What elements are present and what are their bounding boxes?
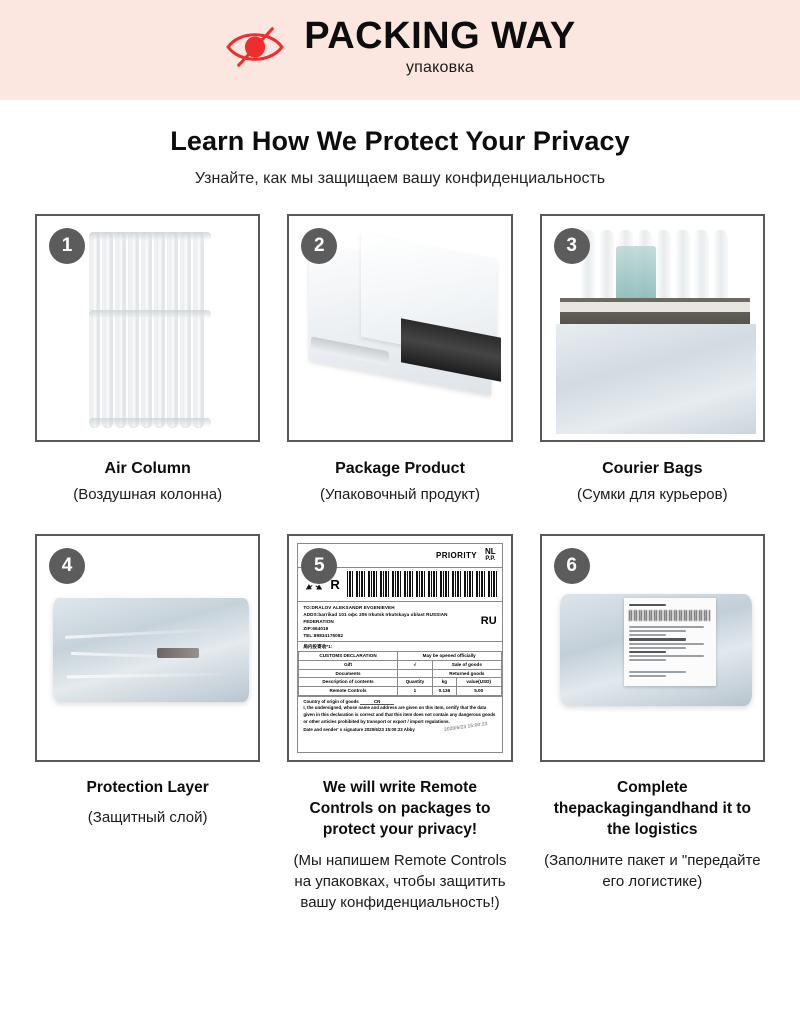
step-card-5: 5 PRIORITY NL P.P.: [287, 534, 512, 913]
brand-name: PACKING WAY: [304, 17, 576, 57]
step-number-badge-4: 4: [49, 548, 85, 584]
step-card-6: 6: [540, 534, 765, 913]
step-number-badge-1: 1: [49, 228, 85, 264]
customs-gift-label: Gift: [299, 660, 397, 669]
barcode-image: [347, 571, 497, 597]
brand-subtitle: упаковка: [406, 59, 474, 77]
table-row: CUSTOMS DECLARATION May be opened offici…: [299, 652, 501, 661]
origin-value: CN: [360, 699, 394, 705]
step-number-badge-3: 3: [554, 228, 590, 264]
customs-documents-check: [397, 669, 432, 678]
step-title-en-6: Complete thepackagingandhand it to the l…: [544, 777, 761, 841]
step-caption-2: Package Product (Упаковочный продукт): [316, 442, 484, 506]
step-title-en-4: Protection Layer: [87, 777, 209, 798]
step-title-ru-2: (Упаковочный продукт): [320, 485, 480, 505]
step-caption-1: Air Column (Воздушная колонна): [69, 442, 226, 506]
table-row: Documents Returned goods: [299, 669, 501, 678]
step-title-ru-3: (Сумки для курьеров): [577, 485, 728, 505]
step-title-ru-4: (Защитный слой): [87, 807, 209, 828]
step-title-en-5: We will write Remote Controls on package…: [291, 777, 508, 841]
customs-col-quantity: Quantity: [397, 678, 432, 687]
address-line-3: FEDERATION: [303, 618, 474, 625]
step-title-en-3: Courier Bags: [577, 458, 728, 479]
table-row: Description of contents Quantity kg valu…: [299, 678, 501, 687]
step-image-2: 2: [287, 214, 512, 442]
step-number-badge-6: 6: [554, 548, 590, 584]
customs-item-description: Remote Controls: [299, 687, 397, 696]
declaration-text: I, the undersigned, whose name and addre…: [303, 705, 496, 725]
step-image-5: 5 PRIORITY NL P.P.: [287, 534, 512, 762]
page-subtitle: Узнайте, как мы защищаем вашу конфиденци…: [0, 170, 800, 188]
recycle-letter: R: [330, 577, 339, 592]
address-line-1: TO:DRALOV ALEKSANDR EVGENIEVEH: [303, 604, 474, 611]
step-title-ru-6: (Заполните пакет и "передайте его логист…: [544, 850, 761, 892]
page-title: Learn How We Protect Your Privacy: [0, 126, 800, 157]
customs-sale-label: Sale of goods: [433, 660, 502, 669]
step-title-en-1: Air Column: [73, 458, 222, 479]
table-row: Remote Controls 1 0.136 5.00: [299, 687, 501, 696]
cn-internal-note: 局内投寄收*1:: [298, 642, 501, 651]
origin-row: Country of origin of goods CN: [303, 699, 496, 706]
steps-grid-row-1: 1 Air Column (Воздушная колонна): [0, 214, 800, 506]
customs-col-kg: kg: [433, 678, 457, 687]
customs-documents-label: Documents: [299, 669, 397, 678]
brand-text: PACKING WAY упаковка: [304, 17, 576, 78]
origin-label: Country of origin of goods: [303, 699, 358, 704]
step-image-6: 6: [540, 534, 765, 762]
destination-country-code: RU: [475, 615, 497, 627]
customs-col-description: Description of contents: [299, 678, 397, 687]
postage-paid-text: P.P.: [485, 556, 496, 562]
step-caption-6: Complete thepackagingandhand it to the l…: [540, 762, 765, 892]
eye-slash-icon: [224, 23, 286, 71]
step-title-ru-5: (Мы напишем Remote Controls на упаковках…: [291, 850, 508, 913]
steps-grid-row-2: 4 Protection Layer (Защитный слой) 5 PRI…: [0, 534, 800, 913]
step-caption-4: Protection Layer (Защитный слой): [83, 762, 213, 828]
address-line-2: ADDS:barrikad 101 офс 205 Irkutsk Irkuts…: [303, 611, 474, 618]
step-image-3: 3: [540, 214, 765, 442]
table-row: Gift √ Sale of goods: [299, 660, 501, 669]
address-line-4: ZIP:664019: [303, 625, 474, 632]
customs-declaration-table: CUSTOMS DECLARATION May be opened offici…: [298, 651, 501, 696]
customs-item-quantity: 1: [397, 687, 432, 696]
step-title-en-2: Package Product: [320, 458, 480, 479]
step-caption-5: We will write Remote Controls on package…: [287, 762, 512, 913]
priority-text: PRIORITY: [436, 551, 477, 560]
brand-lockup: PACKING WAY упаковка: [224, 17, 576, 78]
step-card-1: 1 Air Column (Воздушная колонна): [35, 214, 260, 506]
recipient-address: TO:DRALOV ALEKSANDR EVGENIEVEH ADDS:barr…: [303, 604, 474, 640]
step-image-1: 1: [35, 214, 260, 442]
customs-gift-check: √: [397, 660, 432, 669]
customs-col-value: value(USD): [456, 678, 501, 687]
customs-returned-label: Returned goods: [433, 669, 502, 678]
step-title-ru-1: (Воздушная колонна): [73, 485, 222, 505]
site-header: PACKING WAY упаковка: [0, 0, 800, 100]
postage-mark: NL P.P.: [485, 548, 496, 563]
step-card-4: 4 Protection Layer (Защитный слой): [35, 534, 260, 913]
label-address-row: TO:DRALOV ALEKSANDR EVGENIEVEH ADDS:barr…: [298, 602, 501, 643]
title-block: Learn How We Protect Your Privacy Узнайт…: [0, 100, 800, 188]
customs-item-value: 5.00: [456, 687, 501, 696]
step-card-3: 3 Courier Bags (Сумки для курьеров): [540, 214, 765, 506]
address-line-5: TEL:89834175082: [303, 632, 474, 639]
step-number-badge-5: 5: [301, 548, 337, 584]
customs-header-right: May be opened officially: [397, 652, 501, 661]
customs-item-kg: 0.136: [433, 687, 457, 696]
step-image-4: 4: [35, 534, 260, 762]
country-code-top: NL: [485, 548, 496, 556]
step-caption-3: Courier Bags (Сумки для курьеров): [573, 442, 732, 506]
step-card-2: 2 Package Product (Упаковочный продукт): [287, 214, 512, 506]
customs-header-left: CUSTOMS DECLARATION: [299, 652, 397, 661]
